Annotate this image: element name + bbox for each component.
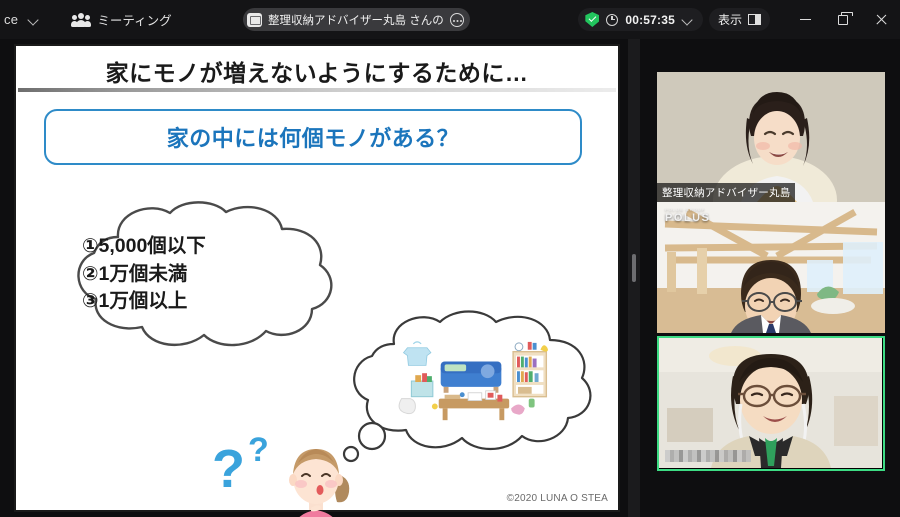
thinking-woman-illustration: [271, 436, 361, 517]
chevron-down-icon[interactable]: [28, 14, 40, 26]
minimize-icon: [800, 19, 811, 20]
maximize-icon: [838, 15, 848, 25]
option-item-1: ①5,000個以下: [82, 233, 332, 261]
slide-copyright: ©2020 LUNA O STEA: [507, 493, 608, 504]
layout-icon: [748, 14, 761, 25]
close-icon: [875, 14, 887, 26]
participant-tile-1[interactable]: 整理収納アドバイザー丸島: [657, 72, 885, 202]
workspace-label[interactable]: ce: [4, 12, 18, 27]
background-logo: POLUS GROUPPOLUS: [665, 207, 710, 224]
titlebar-right-group: 00:57:35 表示: [578, 0, 900, 39]
participant-video-panel: 整理収納アドバイザー丸島: [640, 39, 900, 517]
screen-share-icon: [247, 13, 262, 27]
title-divider: [18, 88, 616, 92]
options-thought-bubble: ①5,000個以下 ②1万個未満 ③1万個以上: [58, 199, 358, 359]
meeting-timer: 00:57:35: [625, 13, 675, 27]
option-item-2: ②1万個未満: [82, 261, 332, 289]
maximize-button[interactable]: [824, 0, 862, 39]
shared-screen-stage[interactable]: 家にモノが増えないようにするために… 家の中には何個モノがある？ ①5,000個…: [0, 39, 634, 517]
question-mark-small: ?: [248, 431, 269, 470]
minimize-button[interactable]: [786, 0, 824, 39]
participant-tile-3[interactable]: [657, 336, 885, 471]
close-button[interactable]: [862, 0, 900, 39]
question-text: 家の中には何個モノがある？: [167, 121, 460, 153]
presentation-slide: 家にモノが増えないようにするために… 家の中には何個モノがある？ ①5,000個…: [14, 44, 620, 512]
meeting-tab[interactable]: ミーティング: [72, 10, 171, 29]
people-icon: [72, 13, 90, 27]
security-shield-icon[interactable]: [585, 12, 599, 27]
meeting-status-group[interactable]: 00:57:35: [578, 8, 703, 31]
screen-share-status-pill[interactable]: 整理収納アドバイザー丸島 さんの: [243, 8, 470, 31]
slide-title: 家にモノが増えないようにするために…: [16, 54, 618, 88]
room-thought-bubble: [336, 308, 598, 456]
share-pill-label: 整理収納アドバイザー丸島 さんの: [268, 12, 444, 28]
participant-name-3-redacted: [665, 450, 751, 462]
clock-icon: [606, 14, 618, 26]
zoom-meeting-window: ce ミーティング 整理収納アドバイザー丸島 さんの 00:57:35: [0, 0, 900, 517]
view-button[interactable]: 表示: [709, 8, 770, 31]
participant-video-3: [659, 338, 882, 468]
options-list: ①5,000個以下 ②1万個未満 ③1万個以上: [82, 233, 332, 316]
view-button-label: 表示: [718, 11, 742, 28]
drag-handle-icon[interactable]: [632, 254, 636, 282]
question-box: 家の中には何個モノがある？: [44, 109, 582, 165]
chevron-down-icon[interactable]: [682, 14, 694, 26]
meeting-tab-label: ミーティング: [97, 10, 171, 29]
option-item-3: ③1万個以上: [82, 288, 332, 316]
titlebar-left-group: ce ミーティング: [0, 10, 172, 29]
participant-name-1: 整理収納アドバイザー丸島: [657, 183, 795, 202]
cluttered-room-illustration: [382, 338, 562, 428]
participant-tile-2[interactable]: POLUS GROUPPOLUS: [657, 202, 885, 333]
more-options-icon[interactable]: [450, 13, 464, 27]
question-mark-large: ?: [212, 438, 245, 500]
panel-resize-divider[interactable]: [628, 39, 640, 517]
window-title-bar: ce ミーティング 整理収納アドバイザー丸島 さんの 00:57:35: [0, 0, 900, 39]
